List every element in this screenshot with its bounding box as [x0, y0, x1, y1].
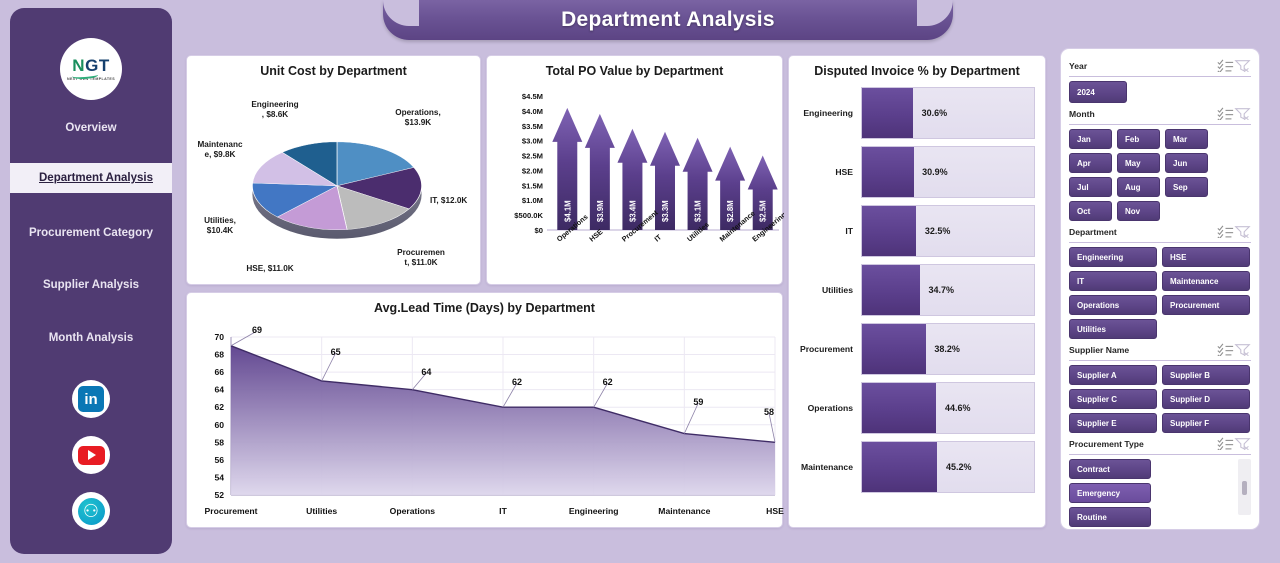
- disputed-value-label: 44.6%: [945, 403, 971, 413]
- filter-chip-emergency[interactable]: Emergency: [1069, 483, 1151, 503]
- clear-filter-button[interactable]: [1234, 437, 1251, 451]
- filter-chip-feb[interactable]: Feb: [1117, 129, 1160, 149]
- bar-y-tick: $2.5M: [522, 152, 543, 161]
- filter-chip-engineering[interactable]: Engineering: [1069, 247, 1157, 267]
- unit-cost-pie-chart: Operations, $13.9K IT, $12.0K Procuremen…: [187, 78, 480, 268]
- disputed-bar-fill: [862, 265, 920, 315]
- disputed-bar-track: 32.5%: [861, 205, 1035, 257]
- filter-chip-contract[interactable]: Contract: [1069, 459, 1151, 479]
- disputed-bar-fill: [862, 442, 937, 492]
- disputed-bar-track: 30.6%: [861, 87, 1035, 139]
- avg-lead-time-chart-title: Avg.Lead Time (Days) by Department: [187, 293, 782, 315]
- filter-chip-may[interactable]: May: [1117, 153, 1160, 173]
- disputed-category-label: IT: [799, 226, 861, 236]
- sidebar-item-label: Procurement Category: [29, 227, 153, 239]
- bar-y-tick: $0: [535, 226, 543, 235]
- bar-value-label: $3.9M: [596, 200, 605, 222]
- disputed-row[interactable]: Utilities34.7%: [799, 261, 1035, 319]
- disputed-invoice-chart-card: Disputed Invoice % by Department Enginee…: [788, 55, 1046, 528]
- disputed-row[interactable]: Operations44.6%: [799, 379, 1035, 437]
- dashboard-root: NGT NEXT GEN TEMPLATES Overview Departme…: [0, 0, 1280, 563]
- line-y-tick: 66: [214, 367, 224, 377]
- youtube-icon: [78, 446, 105, 465]
- line-y-tick: 70: [214, 332, 224, 342]
- filter-chip-group: Supplier ASupplier BSupplier CSupplier D…: [1069, 365, 1251, 433]
- filter-header: Procurement Type: [1069, 435, 1251, 452]
- bar-y-tick: $4.5M: [522, 92, 543, 101]
- filter-chip-aug[interactable]: Aug: [1117, 177, 1160, 197]
- sidebar-item-procurement-category[interactable]: Procurement Category: [10, 218, 172, 248]
- bar-x-tick: IT: [653, 232, 664, 243]
- clear-filter-icon[interactable]: [1234, 437, 1251, 451]
- multi-select-icon[interactable]: [1217, 437, 1234, 451]
- clear-filter-icon[interactable]: [1234, 59, 1251, 73]
- avg-lead-time-area-chart: 70686664626058565452 ProcurementUtilitie…: [187, 315, 782, 520]
- disputed-value-label: 30.9%: [922, 167, 948, 177]
- multi-select-button[interactable]: [1217, 225, 1234, 239]
- disputed-row[interactable]: Engineering30.6%: [799, 84, 1035, 142]
- filter-chip-supplier-c[interactable]: Supplier C: [1069, 389, 1157, 409]
- filter-panel: Year 2024Month JanFebMarAprMayJunJulAugS…: [1060, 48, 1260, 530]
- sidebar-item-label: Month Analysis: [49, 332, 134, 344]
- filter-chip-apr[interactable]: Apr: [1069, 153, 1112, 173]
- filter-chip-operations[interactable]: Operations: [1069, 295, 1157, 315]
- filter-chip-jun[interactable]: Jun: [1165, 153, 1208, 173]
- filter-chip-sep[interactable]: Sep: [1165, 177, 1208, 197]
- multi-select-button[interactable]: [1217, 343, 1234, 357]
- filter-chip-supplier-e[interactable]: Supplier E: [1069, 413, 1157, 433]
- filter-header: Department: [1069, 223, 1251, 240]
- disputed-bar-fill: [862, 206, 916, 256]
- line-y-tick: 68: [214, 350, 224, 360]
- sidebar-item-label: Overview: [65, 122, 116, 134]
- line-x-tick: Procurement: [204, 506, 257, 516]
- line-point-label: 69: [252, 325, 262, 335]
- disputed-value-label: 32.5%: [925, 226, 951, 236]
- total-po-value-bar-chart: $4.5M$4.0M$3.5M$3.0M$2.5M$2.0M$1.5M$1.0M…: [487, 78, 782, 274]
- pie-label-it: IT, $12.0K: [430, 196, 484, 206]
- clear-filter-button[interactable]: [1234, 59, 1251, 73]
- disputed-bar-fill: [862, 147, 914, 197]
- filter-chip-group: EngineeringHSEITMaintenanceOperationsPro…: [1069, 247, 1251, 339]
- filter-chip-group: JanFebMarAprMayJunJulAugSepOctNov: [1069, 129, 1251, 221]
- line-point-label: 58: [764, 407, 774, 417]
- filter-divider: [1069, 76, 1251, 77]
- disputed-value-label: 30.6%: [922, 108, 948, 118]
- line-x-tick: Utilities: [306, 506, 337, 516]
- disputed-bar-track: 45.2%: [861, 441, 1035, 493]
- disputed-bar-fill: [862, 383, 936, 433]
- unit-cost-chart-card: Unit Cost by Department Operations, $13.…: [186, 55, 481, 285]
- clear-filter-icon[interactable]: [1234, 343, 1251, 357]
- linkedin-icon: in: [78, 386, 104, 412]
- linkedin-button[interactable]: in: [72, 380, 110, 418]
- bar-value-label: $4.1M: [563, 200, 572, 222]
- pie-label-operations: Operations, $13.9K: [387, 108, 449, 129]
- line-x-tick: IT: [499, 506, 507, 516]
- website-button[interactable]: ⚇: [72, 492, 110, 530]
- filter-divider: [1069, 242, 1251, 243]
- filter-chip-supplier-d[interactable]: Supplier D: [1162, 389, 1250, 409]
- clear-filter-button[interactable]: [1234, 225, 1251, 239]
- filter-chip-supplier-b[interactable]: Supplier B: [1162, 365, 1250, 385]
- line-y-tick: 62: [214, 402, 224, 412]
- bar-value-label: $3.3M: [661, 200, 670, 222]
- clear-filter-button[interactable]: [1234, 343, 1251, 357]
- disputed-category-label: Utilities: [799, 285, 861, 295]
- disputed-row[interactable]: HSE30.9%: [799, 143, 1035, 201]
- pie-label-hse: HSE, $11.0K: [235, 264, 305, 274]
- logo: NGT NEXT GEN TEMPLATES: [60, 38, 122, 100]
- pie-label-utilities: Utilities, $10.4K: [189, 216, 251, 237]
- bar-value-label: $3.1M: [694, 200, 703, 222]
- total-po-value-chart-card: Total PO Value by Department $4.5M$4.0M$…: [486, 55, 783, 285]
- disputed-bar-fill: [862, 88, 913, 138]
- scrollbar-thumb[interactable]: [1242, 481, 1247, 495]
- filter-header: Month: [1069, 105, 1251, 122]
- disputed-category-label: Procurement: [799, 344, 861, 354]
- filter-title: Month: [1069, 109, 1217, 119]
- filter-chip-group: 2024: [1069, 81, 1251, 103]
- bar-y-tick: $3.5M: [522, 122, 543, 131]
- line-x-tick: Operations: [390, 506, 435, 516]
- avg-lead-time-chart-card: Avg.Lead Time (Days) by Department 70686…: [186, 292, 783, 528]
- multi-select-button[interactable]: [1217, 59, 1234, 73]
- filter-chip-utilities[interactable]: Utilities: [1069, 319, 1157, 339]
- globe-icon: ⚇: [78, 498, 105, 525]
- line-point-label: 65: [331, 347, 341, 357]
- line-y-tick: 52: [214, 490, 224, 500]
- filter-chip-supplier-a[interactable]: Supplier A: [1069, 365, 1157, 385]
- filter-title: Supplier Name: [1069, 345, 1217, 355]
- sidebar: NGT NEXT GEN TEMPLATES Overview Departme…: [10, 8, 172, 554]
- line-y-tick: 60: [214, 420, 224, 430]
- social-links: in ⚇: [10, 380, 172, 548]
- line-point-label: 62: [512, 377, 522, 387]
- disputed-value-label: 45.2%: [946, 462, 972, 472]
- line-point-label: 59: [693, 397, 703, 407]
- page-header: Department Analysis: [383, 0, 953, 40]
- leader-line: [322, 353, 336, 381]
- bar-value-label: $2.5M: [759, 200, 768, 222]
- line-x-tick: HSE: [766, 506, 784, 516]
- line-y-tick: 58: [214, 437, 224, 447]
- filter-header: Year: [1069, 57, 1251, 74]
- youtube-button[interactable]: [72, 436, 110, 474]
- disputed-bar-track: 38.2%: [861, 323, 1035, 375]
- filter-chip-2024[interactable]: 2024: [1069, 81, 1127, 103]
- filter-divider: [1069, 360, 1251, 361]
- disputed-invoice-rows: Engineering30.6%HSE30.9%IT32.5%Utilities…: [789, 78, 1045, 496]
- sidebar-item-label: Department Analysis: [39, 172, 153, 184]
- bar-y-tick: $3.0M: [522, 137, 543, 146]
- bar-y-tick: $1.0M: [522, 196, 543, 205]
- disputed-category-label: Maintenance: [799, 462, 861, 472]
- clear-filter-button[interactable]: [1234, 107, 1251, 121]
- filter-chip-oct[interactable]: Oct: [1069, 201, 1112, 221]
- filter-title: Year: [1069, 61, 1217, 71]
- disputed-row[interactable]: Maintenance45.2%: [799, 438, 1035, 496]
- multi-select-button[interactable]: [1217, 437, 1234, 451]
- line-x-tick: Maintenance: [658, 506, 710, 516]
- disputed-row[interactable]: Procurement38.2%: [799, 320, 1035, 378]
- filter-divider: [1069, 124, 1251, 125]
- disputed-row[interactable]: IT32.5%: [799, 202, 1035, 260]
- filter-chip-jan[interactable]: Jan: [1069, 129, 1112, 149]
- leader-line: [769, 413, 775, 442]
- line-x-tick: Engineering: [569, 506, 619, 516]
- disputed-category-label: Engineering: [799, 108, 861, 118]
- line-y-tick: 54: [214, 472, 224, 482]
- sidebar-item-supplier-analysis[interactable]: Supplier Analysis: [10, 270, 172, 300]
- disputed-bar-fill: [862, 324, 926, 374]
- bar-y-tick: $4.0M: [522, 107, 543, 116]
- sidebar-item-label: Supplier Analysis: [43, 279, 139, 291]
- unit-cost-chart-title: Unit Cost by Department: [187, 56, 480, 78]
- bar-value-label: $3.4M: [628, 200, 637, 222]
- sidebar-item-department-analysis[interactable]: Department Analysis: [10, 163, 172, 193]
- disputed-category-label: Operations: [799, 403, 861, 413]
- multi-select-icon[interactable]: [1217, 225, 1234, 239]
- disputed-bar-track: 34.7%: [861, 264, 1035, 316]
- disputed-value-label: 38.2%: [934, 344, 960, 354]
- bar-y-tick: $1.5M: [522, 181, 543, 190]
- sidebar-item-overview[interactable]: Overview: [10, 113, 172, 143]
- bar-svg: $4.5M$4.0M$3.5M$3.0M$2.5M$2.0M$1.5M$1.0M…: [487, 78, 784, 274]
- filter-title: Procurement Type: [1069, 439, 1217, 449]
- bar-y-tick: $500.0K: [514, 211, 543, 220]
- disputed-value-label: 34.7%: [928, 285, 954, 295]
- total-po-value-chart-title: Total PO Value by Department: [487, 56, 782, 78]
- line-y-tick: 56: [214, 455, 224, 465]
- disputed-bar-track: 30.9%: [861, 146, 1035, 198]
- filter-chip-procurement[interactable]: Procurement: [1162, 295, 1250, 315]
- clear-filter-icon[interactable]: [1234, 225, 1251, 239]
- filter-header: Supplier Name: [1069, 341, 1251, 358]
- line-y-tick: 64: [214, 385, 224, 395]
- filter-divider: [1069, 454, 1251, 455]
- filter-chip-it[interactable]: IT: [1069, 271, 1157, 291]
- disputed-category-label: HSE: [799, 167, 861, 177]
- pie-label-engineering: Engineering , $8.6K: [240, 100, 310, 121]
- filter-chip-hse[interactable]: HSE: [1162, 247, 1250, 267]
- bar-y-tick: $2.0M: [522, 166, 543, 175]
- filter-chip-group: ContractEmergencyRoutine: [1069, 459, 1251, 527]
- bar-value-label: $2.8M: [726, 200, 735, 222]
- line-point-label: 62: [603, 377, 613, 387]
- filter-chip-mar[interactable]: Mar: [1165, 129, 1208, 149]
- multi-select-icon[interactable]: [1217, 343, 1234, 357]
- filter-chip-nov[interactable]: Nov: [1117, 201, 1160, 221]
- pie-label-procurement: Procuremen t, $11.0K: [390, 248, 452, 269]
- filter-chip-supplier-f[interactable]: Supplier F: [1162, 413, 1250, 433]
- multi-select-icon[interactable]: [1217, 107, 1234, 121]
- disputed-bar-track: 44.6%: [861, 382, 1035, 434]
- page-title: Department Analysis: [561, 8, 775, 32]
- filter-scrollbar[interactable]: [1238, 459, 1251, 515]
- pie-label-maintenance: Maintenanc e, $9.8K: [187, 140, 253, 161]
- multi-select-button[interactable]: [1217, 107, 1234, 121]
- filter-title: Department: [1069, 227, 1217, 237]
- clear-filter-icon[interactable]: [1234, 107, 1251, 121]
- disputed-invoice-chart-title: Disputed Invoice % by Department: [789, 56, 1045, 78]
- filter-chip-maintenance[interactable]: Maintenance: [1162, 271, 1250, 291]
- filter-chip-jul[interactable]: Jul: [1069, 177, 1112, 197]
- line-svg: 70686664626058565452: [187, 315, 782, 520]
- multi-select-icon[interactable]: [1217, 59, 1234, 73]
- sidebar-item-month-analysis[interactable]: Month Analysis: [10, 323, 172, 353]
- filter-chip-routine[interactable]: Routine: [1069, 507, 1151, 527]
- pie-svg: [239, 140, 435, 244]
- line-point-label: 64: [421, 367, 431, 377]
